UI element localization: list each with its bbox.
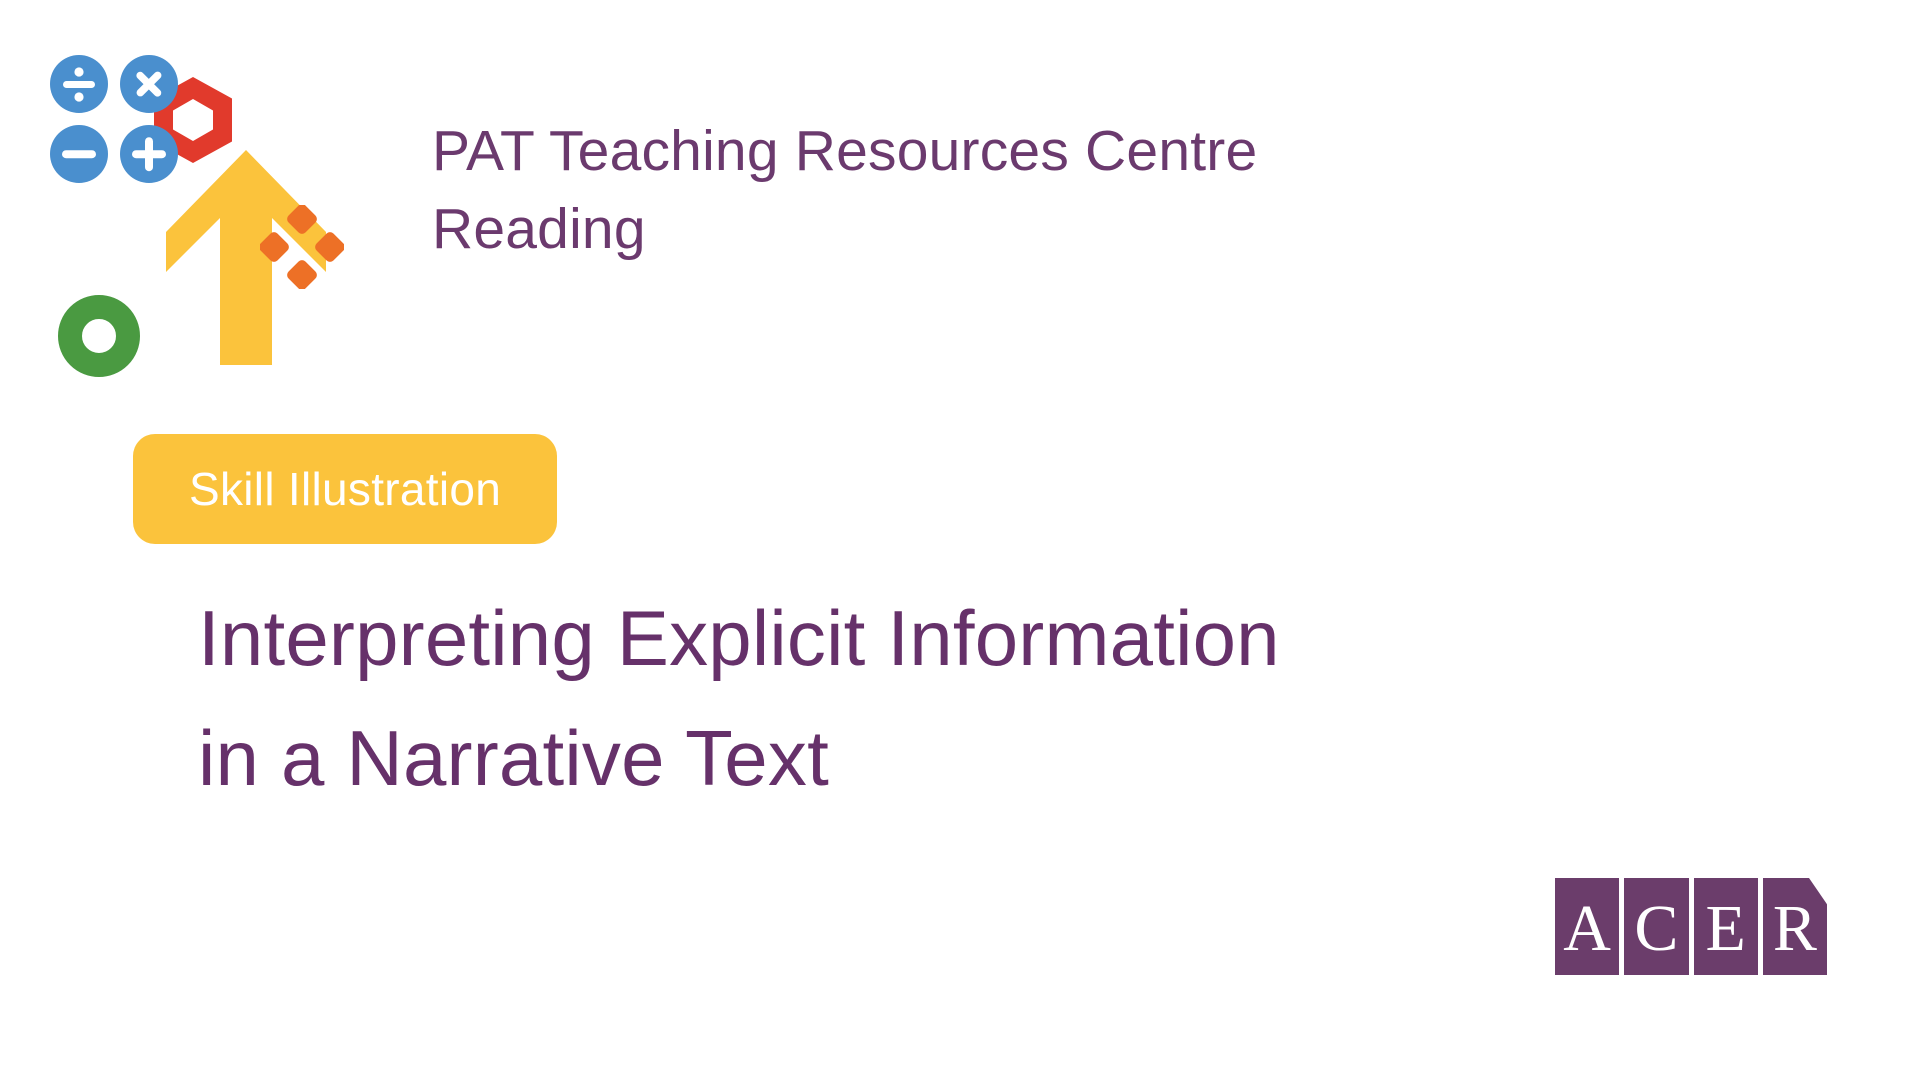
resource-title: Interpreting Explicit Information in a N… — [198, 578, 1648, 818]
status-badge: Skill Illustration — [133, 434, 557, 544]
plus-icon — [120, 125, 178, 183]
multiply-icon — [120, 55, 178, 113]
acer-letter-e-glyph: E — [1705, 896, 1745, 962]
acer-logo: A C E R — [1555, 878, 1827, 975]
minus-icon — [50, 125, 108, 183]
logo-cluster — [50, 55, 450, 355]
slide-canvas: PAT Teaching Resources Centre Reading Sk… — [0, 0, 1920, 1080]
acer-logo-letter-c: C — [1624, 878, 1688, 975]
page-title: PAT Teaching Resources Centre Reading — [432, 112, 1392, 268]
acer-letter-c-glyph: C — [1634, 896, 1678, 962]
acer-letter-r-glyph: R — [1773, 896, 1817, 962]
divide-icon — [50, 55, 108, 113]
green-ring-icon — [58, 295, 140, 377]
diamond-cluster-icon — [260, 205, 344, 289]
acer-logo-letter-r: R — [1763, 878, 1827, 975]
acer-letter-a-glyph: A — [1563, 896, 1611, 962]
acer-logo-letter-a: A — [1555, 878, 1619, 975]
acer-logo-letter-e: E — [1694, 878, 1758, 975]
